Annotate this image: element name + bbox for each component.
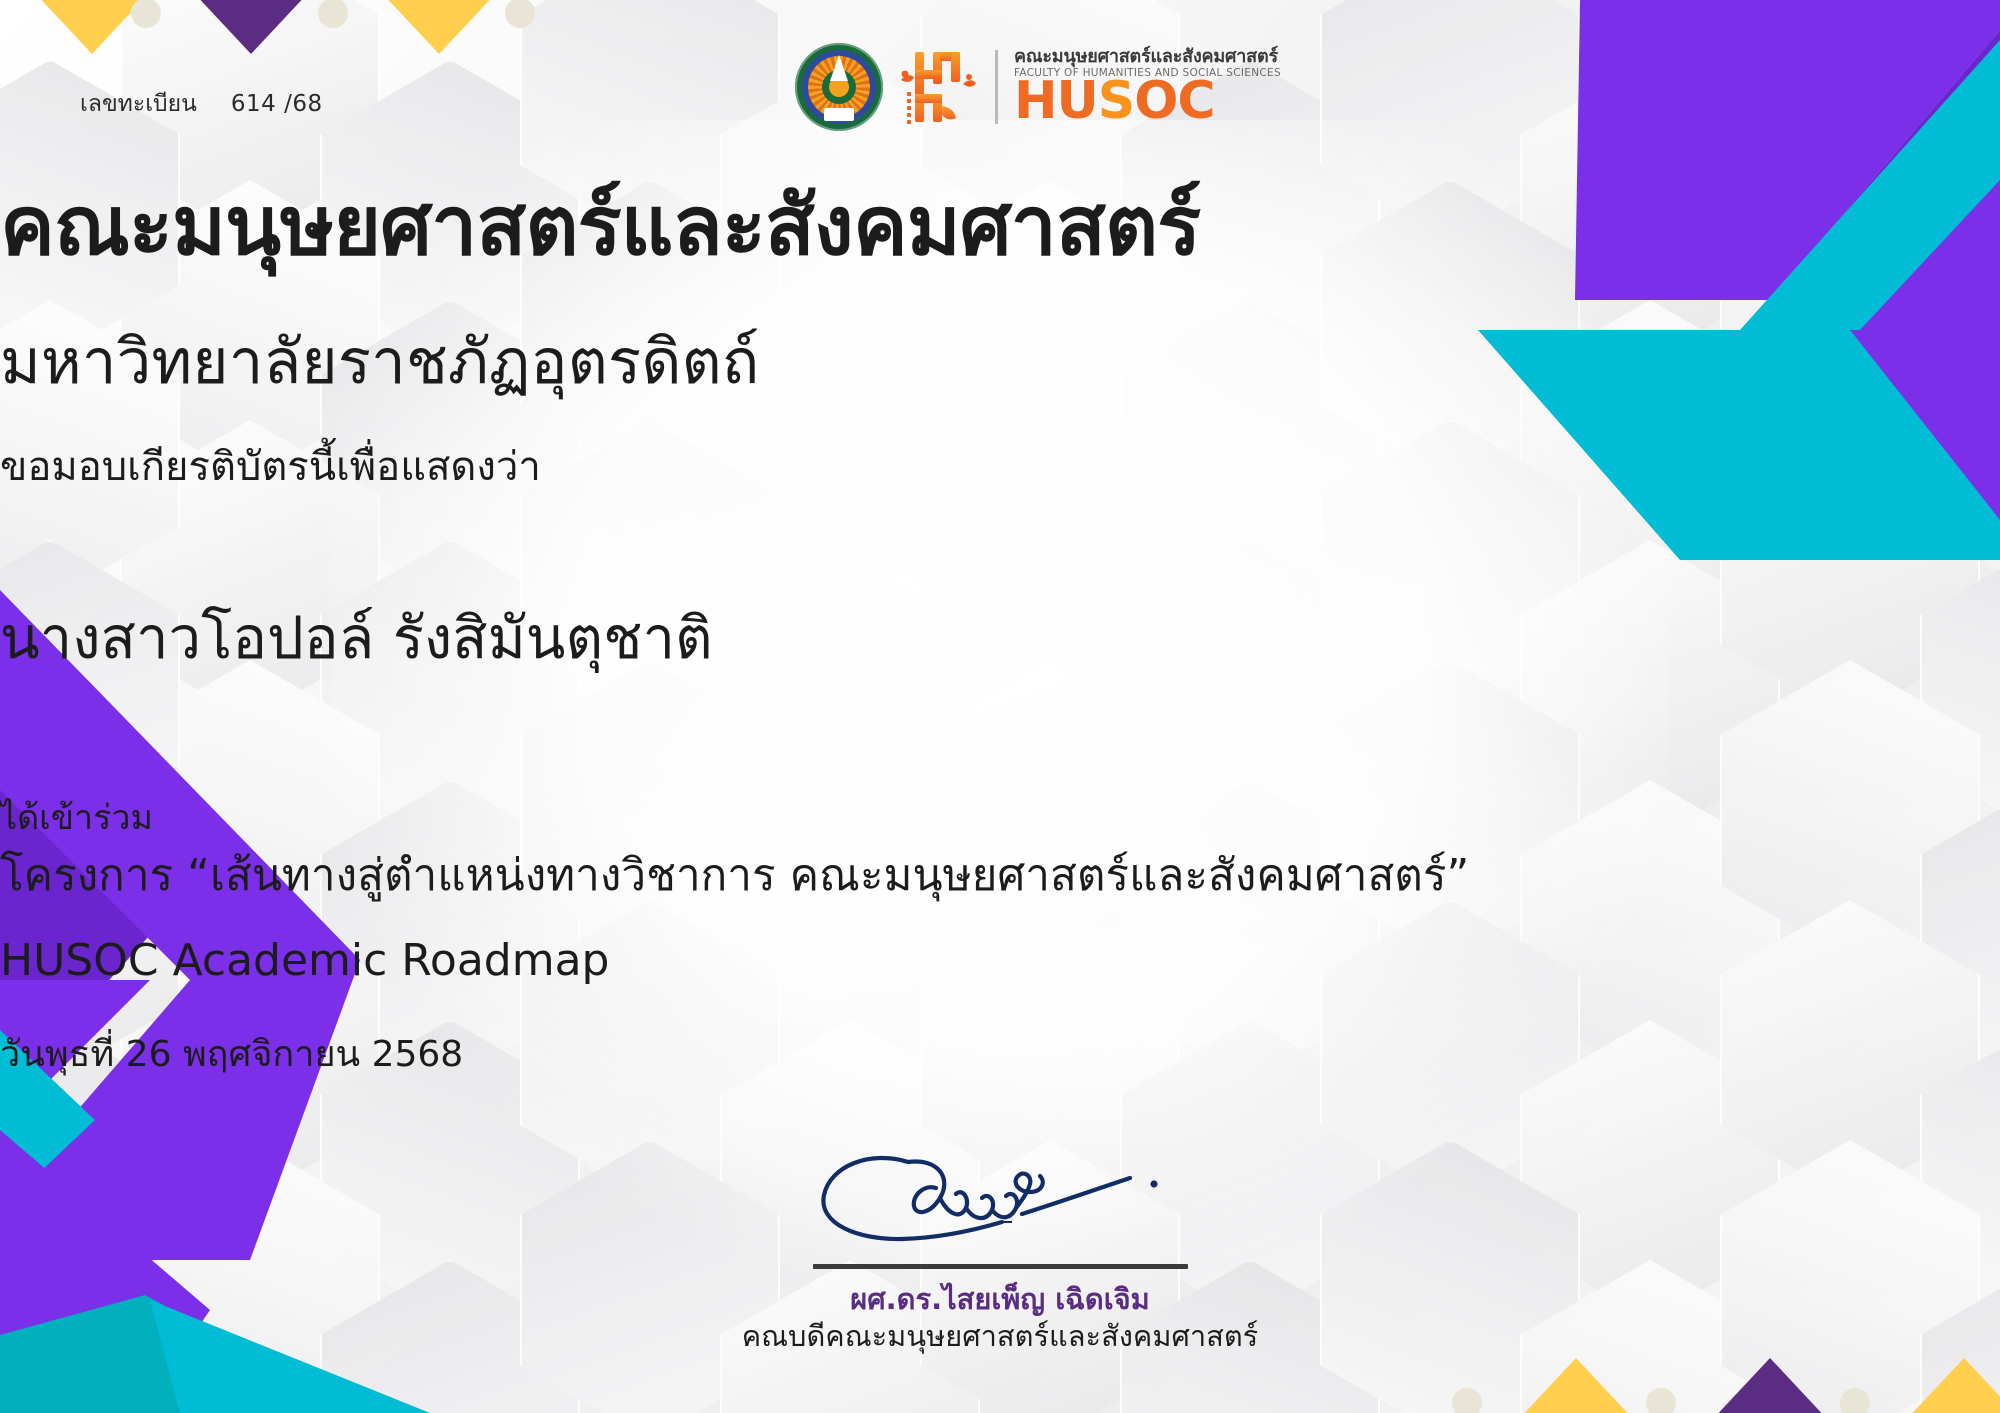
signature-block: ผศ.ดร.ไสยเพ็ญ เฉิดเจิม คณบดีคณะมนุษยศาสต…	[0, 1140, 2000, 1354]
husoc-logo: คณะมนุษยศาสตร์และสังคมศาสตร์ FACULTY OF …	[795, 38, 1215, 136]
project-title-en: HUSOC Academic Roadmap	[0, 935, 2000, 988]
signature-image	[790, 1140, 1210, 1260]
signature-rule	[813, 1264, 1188, 1269]
logo-wordmark: HUSOC	[1014, 78, 1281, 126]
faculty-title: คณะมนุษยศาสตร์และสังคมศาสตร์	[0, 182, 2000, 272]
logo-wordmark-hu: HU	[1014, 71, 1098, 131]
signer-name: ผศ.ดร.ไสยเพ็ญ เฉิดเจิม	[0, 1283, 2000, 1316]
certificate-canvas: เลขทะเบียน614 /68	[0, 0, 2000, 1413]
logo-divider	[995, 50, 998, 124]
university-title: มหาวิทยาลัยราชภัฏอุตรดิตถ์	[0, 328, 2000, 396]
award-statement: ขอมอบเกียรติบัตรนี้เพื่อแสดงว่า	[0, 445, 2000, 489]
logo-wordmark-s: S	[1098, 71, 1134, 131]
husoc-monogram-icon	[893, 44, 979, 130]
registration-value: 614 /68	[231, 91, 323, 117]
signer-role: คณบดีคณะมนุษยศาสตร์และสังคมศาสตร์	[0, 1320, 2000, 1353]
event-date: วันพุธที่ 26 พฤศจิกายน 2568	[0, 1025, 2000, 1082]
corner-decor-right-teal	[1640, 250, 2000, 580]
registration-number: เลขทะเบียน614 /68	[80, 86, 323, 122]
project-title-th: โครงการ “เส้นทางสู่ตำแหน่งทางวิชาการ คณะ…	[0, 850, 2000, 903]
university-seal-icon	[795, 43, 883, 131]
registration-label: เลขทะเบียน	[80, 91, 197, 117]
logo-wordmark-oc: OC	[1134, 71, 1214, 131]
recipient-name: นางสาวโอปอล์ รังสิมันตุชาติ	[0, 605, 2000, 672]
participation-line: ได้เข้าร่วม	[0, 790, 2000, 844]
logo-faculty-th: คณะมนุษยศาสตร์และสังคมศาสตร์	[1014, 48, 1281, 67]
